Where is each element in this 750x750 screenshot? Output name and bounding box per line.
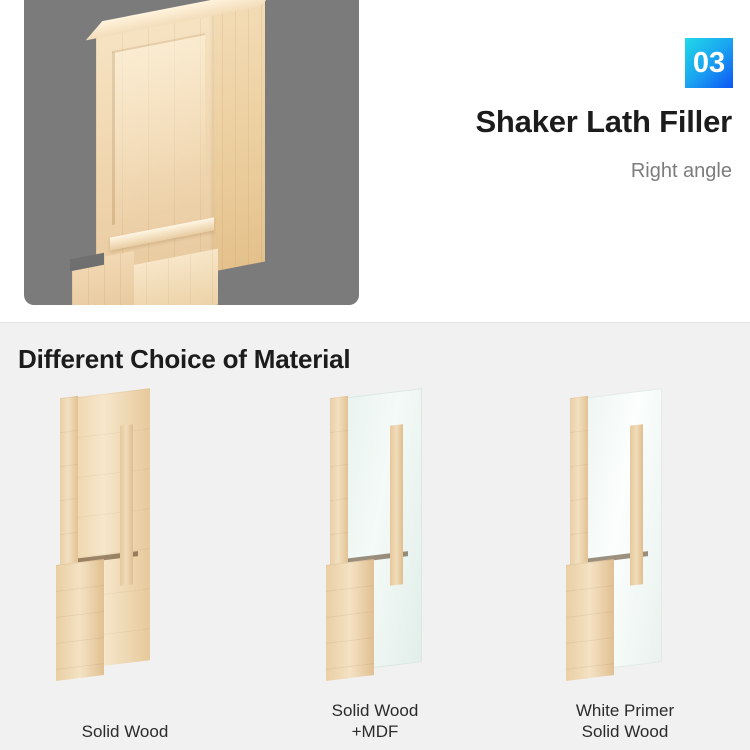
sample-door-body xyxy=(316,393,436,678)
hero-section: 03 Shaker Lath Filler Right angle xyxy=(0,0,750,323)
sample-rear-stile xyxy=(630,424,643,586)
hero-product-photo xyxy=(24,0,359,305)
materials-section: Different Choice of Material Solid Wood xyxy=(0,323,750,750)
hero-door-body xyxy=(96,0,264,294)
material-sample-caption: Solid Wood +MDF xyxy=(250,700,500,742)
material-sample-caption: Solid Wood xyxy=(0,721,250,742)
sample-rear-stile xyxy=(120,424,133,586)
hero-door-front-face xyxy=(96,11,214,289)
sample-front-stile xyxy=(60,396,78,588)
solid-wood-sample-figure xyxy=(0,385,250,685)
sample-front-stile xyxy=(330,396,348,588)
sample-front-stile xyxy=(570,396,588,588)
sample-door-body xyxy=(556,393,676,678)
infographic-page: 03 Shaker Lath Filler Right angle Differ… xyxy=(0,0,750,750)
material-sample-caption: White Primer Solid Wood xyxy=(500,700,750,742)
page-title: Shaker Lath Filler xyxy=(312,104,732,140)
sample-rear-stile xyxy=(390,424,403,586)
sample-foot-block xyxy=(326,559,374,681)
material-sample-white-primer: White Primer Solid Wood xyxy=(500,385,750,750)
hero-shaker-panel-groove xyxy=(112,33,205,225)
step-number-badge: 03 xyxy=(685,38,733,88)
solid-wood-mdf-sample-figure xyxy=(250,385,500,685)
page-subtitle: Right angle xyxy=(312,160,732,183)
sample-door-body xyxy=(46,393,166,678)
material-sample-solid-wood-mdf: Solid Wood +MDF xyxy=(250,385,500,750)
sample-foot-block xyxy=(56,559,104,681)
sample-foot-block xyxy=(566,559,614,681)
shaker-door-illustration xyxy=(24,0,359,305)
white-primer-solid-wood-sample-figure xyxy=(500,385,750,685)
material-samples-row: Solid Wood Solid Wood +MDF xyxy=(0,385,750,750)
materials-section-title: Different Choice of Material xyxy=(18,344,350,375)
material-sample-solid-wood: Solid Wood xyxy=(0,385,250,750)
hero-door-edge-face xyxy=(209,0,265,272)
